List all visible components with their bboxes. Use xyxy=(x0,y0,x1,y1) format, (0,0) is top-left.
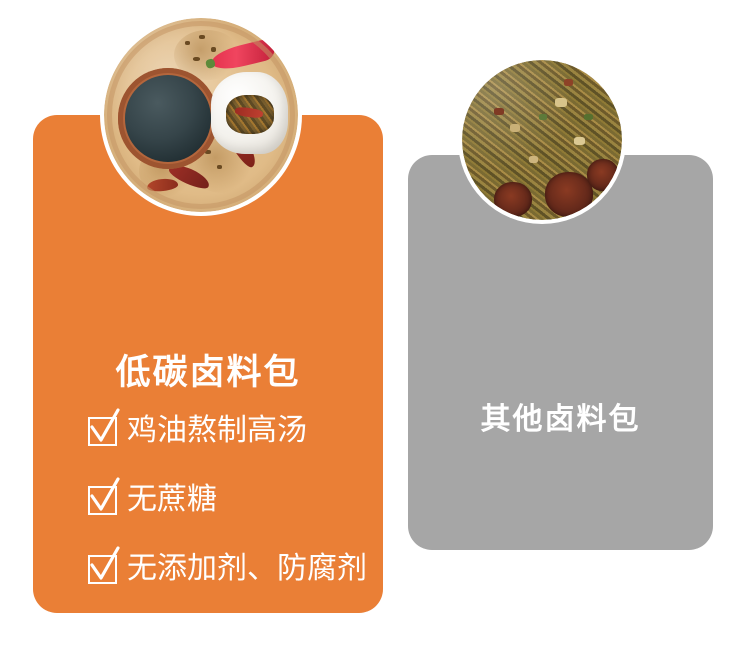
check-icon xyxy=(88,486,117,515)
other-brand-card-title: 其他卤料包 xyxy=(408,401,713,439)
list-item: 鸡油熬制高汤 xyxy=(88,413,398,449)
list-item-label: 无蔗糖 xyxy=(127,482,217,518)
check-icon xyxy=(88,417,117,446)
check-icon xyxy=(88,624,117,646)
list-item: 无蔗糖 xyxy=(88,482,398,518)
low-carb-feature-list: 鸡油熬制高汤 无蔗糖 无添加剂、防腐剂 xyxy=(88,413,398,646)
list-item-label: 鸡油熬制高汤 xyxy=(127,413,307,449)
other-brand-product-photo xyxy=(462,60,622,220)
comparison-infographic: 低碳卤料包 鸡油熬制高汤 无蔗糖 xyxy=(0,0,746,646)
list-item: 无添加剂、防腐剂 xyxy=(88,551,398,587)
low-carb-product-photo xyxy=(104,18,298,212)
list-item: 汤料包+香料包 xyxy=(88,620,398,646)
check-icon xyxy=(88,555,117,584)
list-item-label: 无添加剂、防腐剂 xyxy=(127,551,367,587)
list-item-label: 汤料包+香料包 xyxy=(127,620,325,646)
low-carb-card-title: 低碳卤料包 xyxy=(33,352,383,394)
